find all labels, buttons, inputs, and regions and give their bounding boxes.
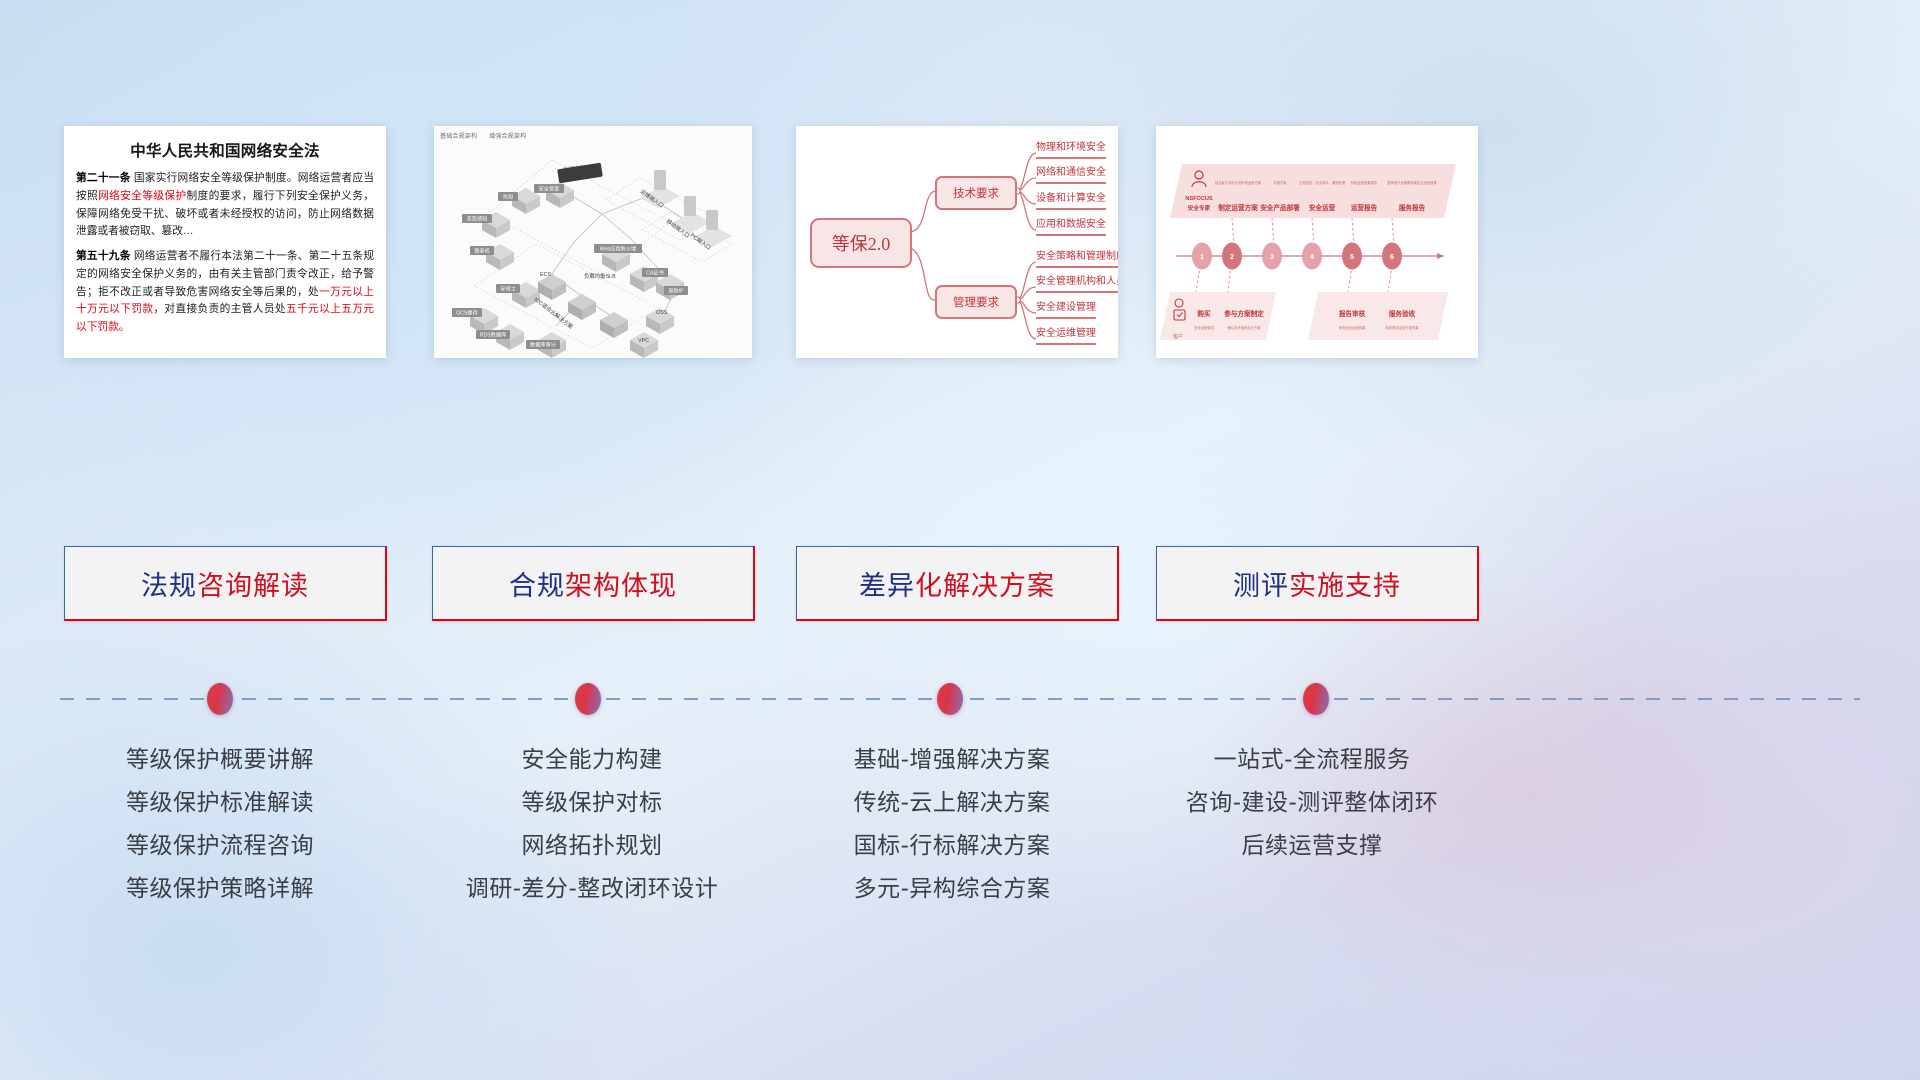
list-item: 调研-差分-整改闭环设计 <box>412 869 772 912</box>
title-suffix: 实施支持 <box>1289 571 1401 602</box>
title-box-row: 法规咨询解读 合规架构体现 差异化解决方案 测评实施支持 <box>0 0 1920 1080</box>
title-box-label: 差异化解决方案 <box>859 564 1055 603</box>
title-box-label: 测评实施支持 <box>1233 564 1401 603</box>
timeline-dot-2 <box>575 683 601 715</box>
title-box-label: 合规架构体现 <box>509 564 677 603</box>
detail-column-3: 基础-增强解决方案 传统-云上解决方案 国标-行标解决方案 多元-异构综合方案 <box>772 740 1132 912</box>
list-item: 等级保护策略详解 <box>40 869 400 912</box>
list-item: 基础-增强解决方案 <box>772 740 1132 783</box>
title-box-label: 法规咨询解读 <box>141 564 309 603</box>
list-item: 多元-异构综合方案 <box>772 869 1132 912</box>
list-item: 安全能力构建 <box>412 740 772 783</box>
title-box-regulation-consulting[interactable]: 法规咨询解读 <box>64 546 387 621</box>
title-suffix: 架构体现 <box>565 571 677 602</box>
list-item: 咨询-建设-测评整体闭环 <box>1132 783 1492 826</box>
title-prefix: 法规 <box>141 571 197 602</box>
timeline-dot-4 <box>1303 683 1329 715</box>
detail-column-2: 安全能力构建 等级保护对标 网络拓扑规划 调研-差分-整改闭环设计 <box>412 740 772 912</box>
list-item: 等级保护流程咨询 <box>40 826 400 869</box>
detail-column-1: 等级保护概要讲解 等级保护标准解读 等级保护流程咨询 等级保护策略详解 <box>40 740 400 912</box>
title-box-compliance-architecture[interactable]: 合规架构体现 <box>432 546 755 621</box>
list-item: 一站式-全流程服务 <box>1132 740 1492 783</box>
list-item: 网络拓扑规划 <box>412 826 772 869</box>
timeline-dot-3 <box>937 683 963 715</box>
list-item: 传统-云上解决方案 <box>772 783 1132 826</box>
title-prefix: 测评 <box>1233 571 1289 602</box>
timeline-dot-1 <box>207 683 233 715</box>
list-item: 等级保护概要讲解 <box>40 740 400 783</box>
list-item: 国标-行标解决方案 <box>772 826 1132 869</box>
title-suffix: 化解决方案 <box>915 571 1055 602</box>
list-item: 后续运营支撑 <box>1132 826 1492 869</box>
title-box-evaluation-support[interactable]: 测评实施支持 <box>1156 546 1479 621</box>
title-suffix: 咨询解读 <box>197 571 309 602</box>
list-item: 等级保护标准解读 <box>40 783 400 826</box>
title-prefix: 差异 <box>859 571 915 602</box>
title-prefix: 合规 <box>509 571 565 602</box>
title-box-differentiated-solution[interactable]: 差异化解决方案 <box>796 546 1119 621</box>
detail-column-4: 一站式-全流程服务 咨询-建设-测评整体闭环 后续运营支撑 <box>1132 740 1492 869</box>
list-item: 等级保护对标 <box>412 783 772 826</box>
